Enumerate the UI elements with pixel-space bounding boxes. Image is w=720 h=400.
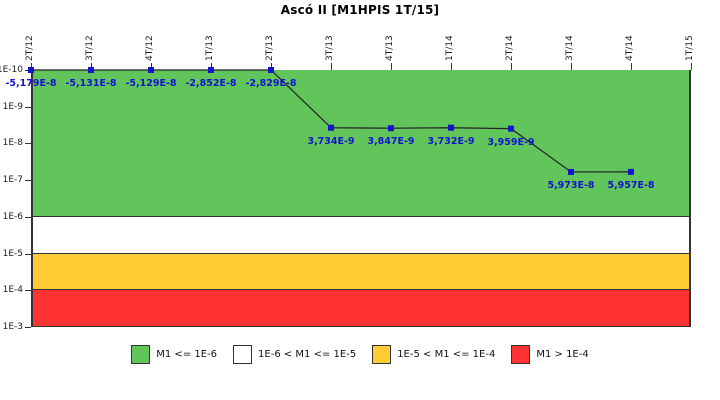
x-tick-label: 2T/14 <box>505 35 515 61</box>
legend-item-2[interactable]: 1E-5 < M1 <= 1E-4 <box>372 345 495 364</box>
threshold-band-white <box>33 217 689 254</box>
legend-item-3[interactable]: M1 > 1E-4 <box>511 345 588 364</box>
x-tick-label: 1T/15 <box>685 35 695 61</box>
y-tick-label: 1E-6 <box>3 212 23 222</box>
data-point-label: -2,829E-8 <box>245 78 296 89</box>
x-tick-label: 1T/13 <box>205 35 215 61</box>
y-tick-label: 1E-3 <box>3 322 23 332</box>
x-tick-label: 3T/14 <box>565 35 575 61</box>
x-tick-label: 1T/14 <box>445 35 455 61</box>
legend-label: M1 <= 1E-6 <box>156 349 217 360</box>
data-point-label: -2,852E-8 <box>185 78 236 89</box>
threshold-band-yellow <box>33 254 689 291</box>
legend-label: M1 > 1E-4 <box>536 349 588 360</box>
x-axis: 2T/123T/124T/121T/132T/133T/134T/131T/14… <box>0 0 720 70</box>
y-tick-mark <box>25 327 31 328</box>
legend-swatch-icon <box>372 345 391 364</box>
plot-area <box>31 70 691 327</box>
x-tick-mark <box>91 63 92 70</box>
x-tick-mark <box>271 63 272 70</box>
data-point-label: 3,959E-9 <box>487 137 534 148</box>
x-tick-label: 4T/13 <box>385 35 395 61</box>
legend-label: 1E-5 < M1 <= 1E-4 <box>397 349 495 360</box>
x-tick-label: 4T/12 <box>145 35 155 61</box>
legend-swatch-icon <box>511 345 530 364</box>
chart-container: Ascó II [M1HPIS 1T/15] 1E-101E-91E-81E-7… <box>0 0 720 400</box>
legend-swatch-icon <box>131 345 150 364</box>
x-tick-mark <box>391 63 392 70</box>
threshold-band-red <box>33 290 689 327</box>
x-tick-mark <box>691 63 692 70</box>
legend-item-1[interactable]: 1E-6 < M1 <= 1E-5 <box>233 345 356 364</box>
y-tick-label: 1E-7 <box>3 175 23 185</box>
data-point-label: -5,179E-8 <box>5 78 56 89</box>
data-point-label: 3,732E-9 <box>427 136 474 147</box>
data-point-label: 3,734E-9 <box>307 136 354 147</box>
data-point-label: 5,957E-8 <box>607 180 654 191</box>
x-tick-mark <box>151 63 152 70</box>
legend-item-0[interactable]: M1 <= 1E-6 <box>131 345 217 364</box>
y-tick-label: 1E-4 <box>3 285 23 295</box>
y-tick-label: 1E-5 <box>3 249 23 259</box>
data-point-label: 5,973E-8 <box>547 180 594 191</box>
chart-legend: M1 <= 1E-61E-6 < M1 <= 1E-51E-5 < M1 <= … <box>0 345 720 364</box>
x-tick-label: 2T/13 <box>265 35 275 61</box>
x-tick-mark <box>571 63 572 70</box>
x-tick-label: 3T/13 <box>325 35 335 61</box>
data-point-label: -5,129E-8 <box>125 78 176 89</box>
x-tick-label: 3T/12 <box>85 35 95 61</box>
data-point-label: 3,847E-9 <box>367 136 414 147</box>
x-tick-label: 2T/12 <box>25 35 35 61</box>
x-tick-mark <box>31 63 32 70</box>
x-tick-mark <box>511 63 512 70</box>
threshold-band-green <box>33 70 689 217</box>
x-tick-mark <box>451 63 452 70</box>
y-tick-label: 1E-8 <box>3 138 23 148</box>
x-tick-mark <box>331 63 332 70</box>
y-tick-label: 1E-9 <box>3 102 23 112</box>
x-tick-label: 4T/14 <box>625 35 635 61</box>
data-point-label: -5,131E-8 <box>65 78 116 89</box>
legend-label: 1E-6 < M1 <= 1E-5 <box>258 349 356 360</box>
x-tick-mark <box>631 63 632 70</box>
x-tick-mark <box>211 63 212 70</box>
legend-swatch-icon <box>233 345 252 364</box>
